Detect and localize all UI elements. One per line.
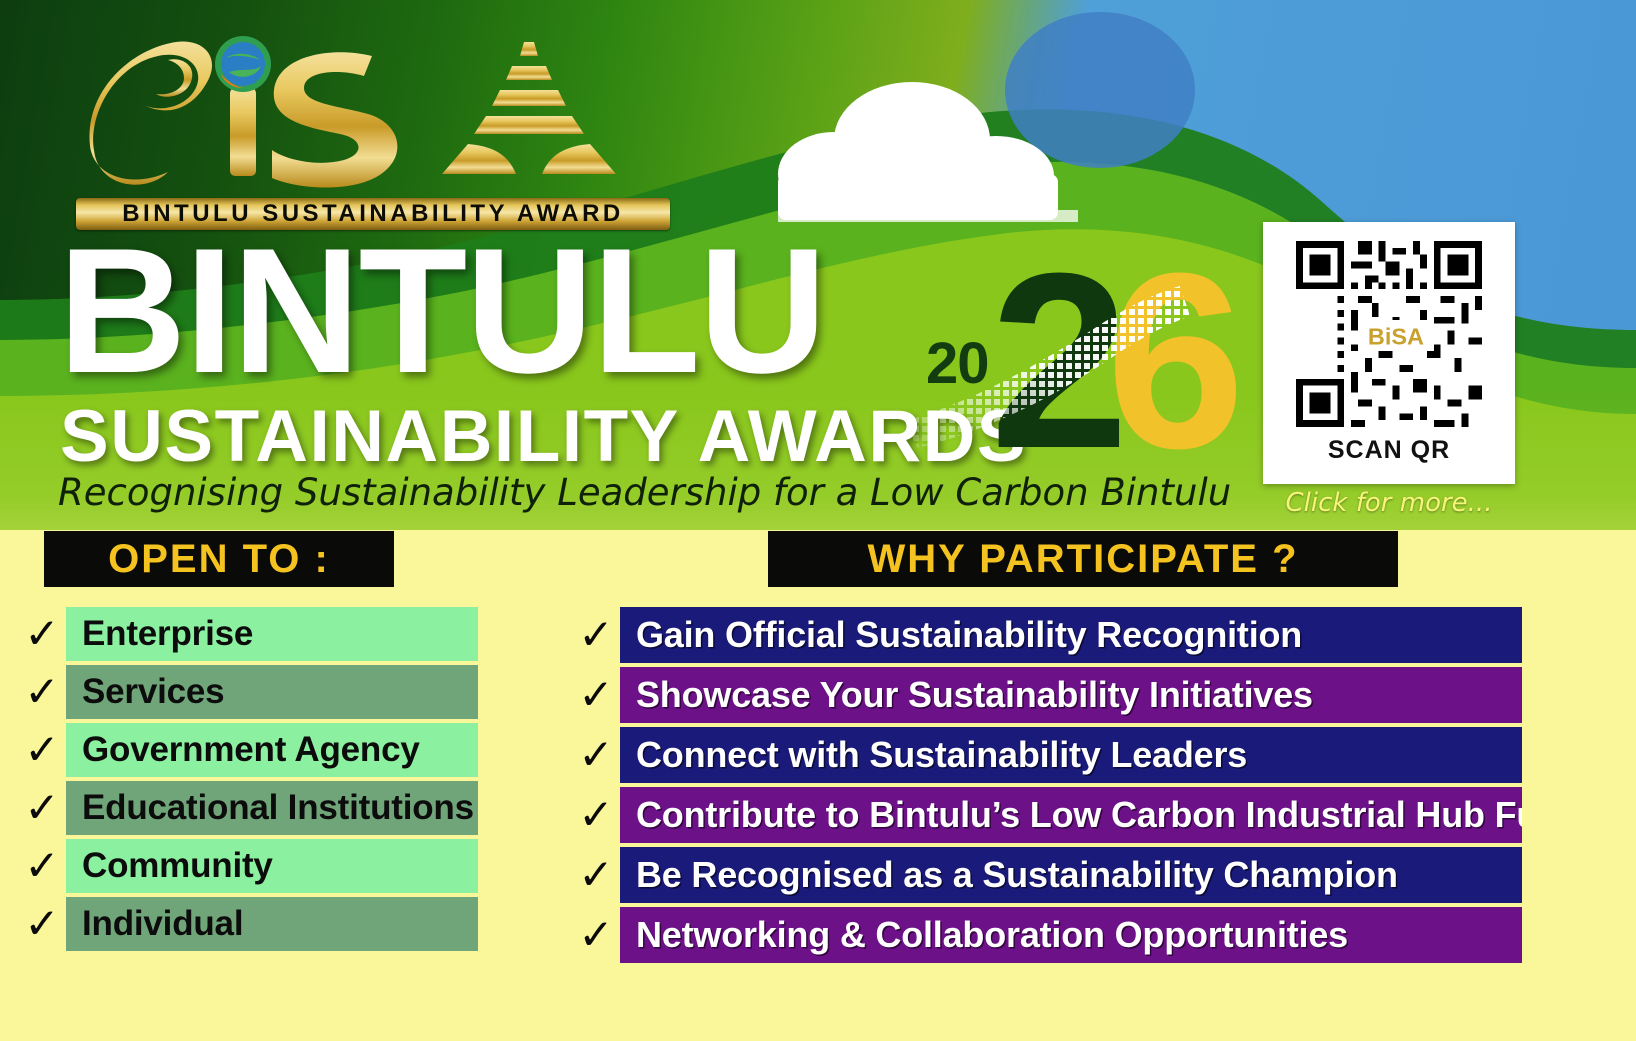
svg-text:BiSA: BiSA (1368, 323, 1424, 349)
open-to-row-bar: Services (66, 665, 478, 719)
list-item: ✓Community (18, 839, 478, 893)
why-participate-label: Showcase Your Sustainability Initiatives (636, 674, 1313, 716)
open-to-row-bar: Individual (66, 897, 478, 951)
check-icon: ✓ (18, 845, 66, 887)
why-participate-label: Be Recognised as a Sustainability Champi… (636, 854, 1398, 896)
check-icon: ✓ (18, 729, 66, 771)
check-icon: ✓ (572, 734, 620, 776)
open-to-row-bar: Educational Institutions (66, 781, 478, 835)
list-item: ✓Services (18, 665, 478, 719)
check-icon: ✓ (18, 671, 66, 713)
why-participate-label: Gain Official Sustainability Recognition (636, 614, 1302, 656)
open-to-label: Enterprise (82, 614, 253, 654)
check-icon: ✓ (572, 614, 620, 656)
page-title: BINTULU (58, 222, 825, 400)
bisa-logo[interactable]: BINTULU SUSTAINABILITY AWARD (72, 22, 672, 214)
check-icon: ✓ (18, 903, 66, 945)
list-item: ✓Educational Institutions (18, 781, 478, 835)
check-icon: ✓ (572, 674, 620, 716)
qr-click-hint[interactable]: Click for more... (1263, 488, 1515, 518)
why-participate-row-bar: Be Recognised as a Sustainability Champi… (620, 847, 1522, 903)
open-to-label: Community (82, 846, 273, 886)
why-participate-row-bar: Showcase Your Sustainability Initiatives (620, 667, 1522, 723)
why-participate-heading-text: WHY PARTICIPATE ? (867, 537, 1298, 582)
cloud-icon (752, 78, 1082, 228)
poster-root: BINTULU SUSTAINABILITY AWARD BINTULU SUS… (0, 0, 1636, 1041)
list-item: ✓Individual (18, 897, 478, 951)
qr-code-card[interactable]: BiSA SCAN QR (1263, 222, 1515, 484)
list-item: ✓Contribute to Bintulu’s Low Carbon Indu… (572, 787, 1522, 843)
page-subtitle: SUSTAINABILITY AWARDS (60, 400, 1027, 473)
check-icon: ✓ (572, 854, 620, 896)
why-participate-row-bar: Networking & Collaboration Opportunities (620, 907, 1522, 963)
check-icon: ✓ (572, 914, 620, 956)
open-to-label: Government Agency (82, 730, 420, 770)
year-digit-two: 2 (990, 236, 1129, 486)
list-item: ✓Networking & Collaboration Opportunitie… (572, 907, 1522, 963)
check-icon: ✓ (572, 794, 620, 836)
why-participate-label: Contribute to Bintulu’s Low Carbon Indus… (636, 794, 1522, 836)
why-participate-label: Connect with Sustainability Leaders (636, 734, 1247, 776)
open-to-heading: OPEN TO : (44, 531, 394, 587)
qr-label: SCAN QR (1328, 436, 1450, 465)
why-participate-row-bar: Connect with Sustainability Leaders (620, 727, 1522, 783)
open-to-label: Individual (82, 904, 243, 944)
list-item: ✓Gain Official Sustainability Recognitio… (572, 607, 1522, 663)
why-participate-label: Networking & Collaboration Opportunities (636, 914, 1348, 956)
qr-code-icon[interactable]: BiSA (1276, 234, 1502, 434)
bisa-logo-mark-icon (72, 22, 672, 202)
list-item: ✓Government Agency (18, 723, 478, 777)
year-prefix: 20 (926, 330, 989, 397)
list-item: ✓Be Recognised as a Sustainability Champ… (572, 847, 1522, 903)
list-item: ✓Showcase Your Sustainability Initiative… (572, 667, 1522, 723)
list-item: ✓Enterprise (18, 607, 478, 661)
why-participate-row-bar: Gain Official Sustainability Recognition (620, 607, 1522, 663)
check-icon: ✓ (18, 787, 66, 829)
open-to-heading-text: OPEN TO : (108, 537, 330, 582)
open-to-row-bar: Government Agency (66, 723, 478, 777)
check-icon: ✓ (18, 613, 66, 655)
open-to-label: Services (82, 672, 224, 712)
open-to-list: ✓Enterprise✓Services✓Government Agency✓E… (18, 607, 478, 955)
why-participate-row-bar: Contribute to Bintulu’s Low Carbon Indus… (620, 787, 1522, 843)
year-graphic: 6 2 20 (912, 232, 1212, 484)
list-item: ✓Connect with Sustainability Leaders (572, 727, 1522, 783)
open-to-row-bar: Community (66, 839, 478, 893)
why-participate-list: ✓Gain Official Sustainability Recognitio… (572, 607, 1522, 967)
open-to-label: Educational Institutions (82, 788, 474, 828)
open-to-row-bar: Enterprise (66, 607, 478, 661)
why-participate-heading: WHY PARTICIPATE ? (768, 531, 1398, 587)
